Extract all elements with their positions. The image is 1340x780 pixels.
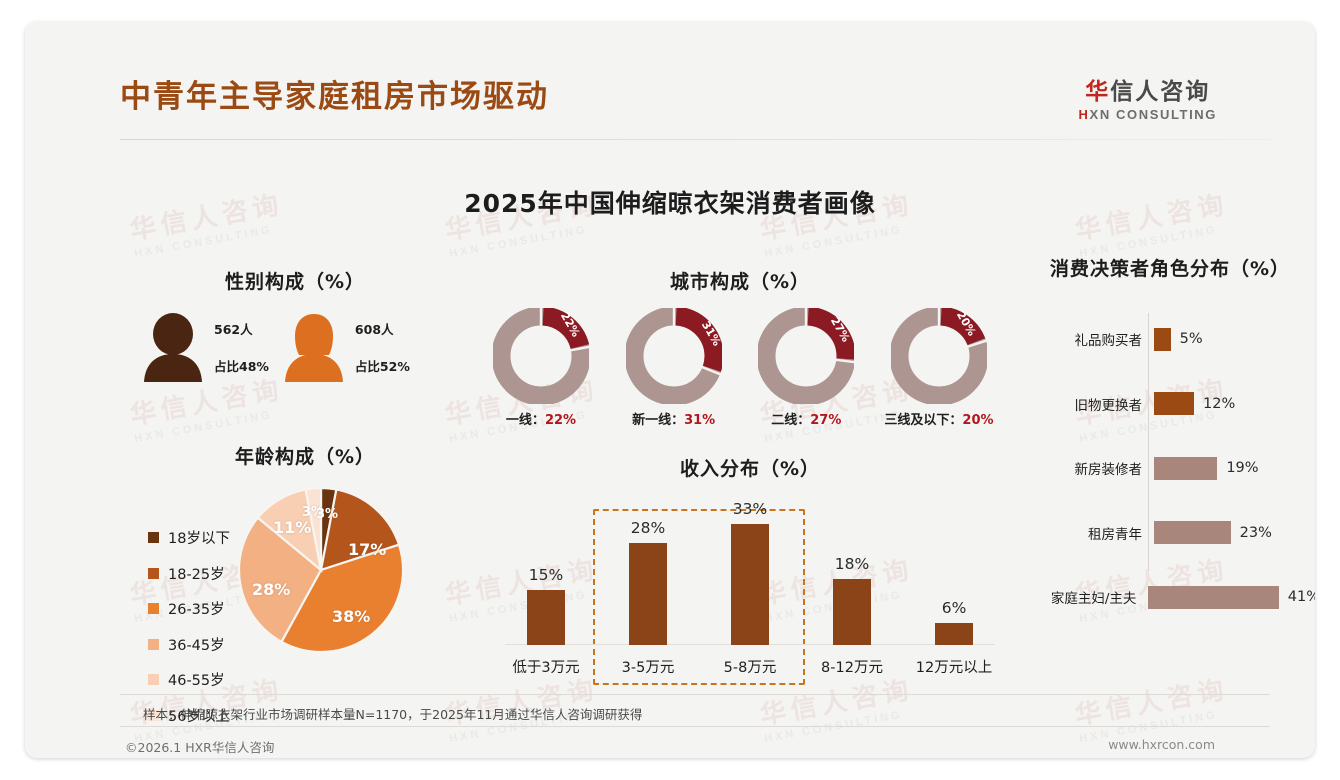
city-donut-4[interactable]: 20%三线及以下：20% — [877, 308, 1001, 428]
logo-chinese: 华信人咨询 — [1079, 80, 1217, 104]
page-title: 中青年主导家庭租房市场驱动 — [120, 82, 549, 113]
role-bar[interactable] — [1148, 586, 1278, 609]
gender-panel-title: 性别构成（%） — [130, 267, 460, 294]
male-silhouette-icon — [142, 312, 204, 384]
donut-caption: 三线及以下：20% — [877, 409, 1001, 428]
copyright-text: ©2026.1 HXR华信人咨询 — [125, 737, 274, 756]
legend-swatch-icon — [148, 532, 159, 543]
age-slice-label-under-18: 3% — [316, 507, 338, 522]
footer-divider-top — [120, 694, 1270, 695]
donut-caption: 一线：22% — [479, 409, 603, 428]
legend-swatch-icon — [148, 674, 159, 685]
gender-male-unit: 562人 占比48% — [142, 312, 269, 384]
logo-chinese-accent: 华 — [1085, 79, 1110, 105]
income-bar-category: 3-5万元 — [597, 656, 699, 677]
gender-female-count: 608人 — [355, 315, 410, 344]
age-pie-chart: 17% 38% 28% 11% 3% 3% — [236, 485, 406, 655]
city-donut-2[interactable]: 31%新一线：31% — [612, 308, 736, 428]
income-bar-column[interactable]: 33%5-8万元 — [699, 495, 801, 645]
header-divider — [120, 139, 1270, 140]
role-name-label: 礼品购买者 — [1020, 329, 1148, 349]
donut-caption-value: 27% — [810, 413, 841, 428]
role-name-label: 租房青年 — [1020, 523, 1148, 543]
donut-caption-value: 22% — [545, 413, 576, 428]
income-bar-column[interactable]: 15%低于3万元 — [495, 495, 597, 645]
age-slice-label-46-55: 11% — [273, 518, 311, 537]
role-name-label: 家庭主妇/主夫 — [1020, 587, 1142, 607]
role-row[interactable]: 旧物更换者12% — [1020, 372, 1315, 437]
age-legend-item[interactable]: 18岁以下 — [148, 527, 230, 548]
city-panel-title: 城市构成（%） — [475, 267, 1005, 294]
donut-caption-value: 31% — [684, 413, 715, 428]
income-bar-value: 33% — [733, 500, 767, 518]
income-panel-title: 收入分布（%） — [495, 454, 1005, 481]
income-bar[interactable] — [731, 524, 769, 645]
income-bar-category: 5-8万元 — [699, 656, 801, 677]
age-legend-item[interactable]: 46-55岁 — [148, 669, 230, 690]
legend-swatch-icon — [148, 568, 159, 579]
role-bar[interactable] — [1154, 457, 1217, 480]
donut-ring: 20% — [891, 308, 987, 404]
income-bar-group: 15%低于3万元28%3-5万元33%5-8万元18%8-12万元6%12万元以… — [495, 495, 1005, 645]
slide-canvas: 华信人咨询HXN CONSULTING华信人咨询HXN CONSULTING华信… — [25, 22, 1315, 758]
main-subtitle: 2025年中国伸缩晾衣架消费者画像 — [25, 184, 1315, 220]
income-bar[interactable] — [629, 543, 667, 645]
donut-caption-name: 新一线： — [632, 413, 684, 428]
watermark-mark: 华信人咨询HXN CONSULTING — [1072, 669, 1233, 745]
logo-english-rest: XN CONSULTING — [1090, 107, 1217, 122]
sample-note: 样本：伸缩晾衣架行业市场调研样本量N=1170，于2025年11月通过华信人咨询… — [143, 704, 642, 723]
income-bar-value: 15% — [529, 566, 563, 584]
age-legend-label: 18岁以下 — [168, 527, 230, 548]
donut-caption-name: 三线及以下： — [884, 413, 962, 428]
donut-ring: 31% — [626, 308, 722, 404]
age-legend-label: 18-25岁 — [168, 563, 225, 584]
income-bar-column[interactable]: 6%12万元以上 — [903, 495, 1005, 645]
role-value-label: 19% — [1226, 460, 1258, 476]
age-legend-label: 46-55岁 — [168, 669, 225, 690]
gender-female-unit: 608人 占比52% — [283, 312, 410, 384]
gender-panel: 性别构成（%） 562人 占比48% 608人 占比5 — [130, 267, 460, 384]
age-panel-title: 年龄构成（%） — [130, 442, 480, 469]
role-bar[interactable] — [1154, 328, 1171, 351]
brand-logo: 华信人咨询 HXN CONSULTING — [1079, 80, 1217, 122]
legend-swatch-icon — [148, 603, 159, 614]
role-bar[interactable] — [1154, 392, 1194, 415]
role-row[interactable]: 家庭主妇/主夫41% — [1020, 565, 1315, 630]
age-legend-label: 36-45岁 — [168, 634, 225, 655]
slide-header: 中青年主导家庭租房市场驱动 华信人咨询 HXN CONSULTING — [25, 22, 1315, 130]
role-name-label: 新房装修者 — [1020, 458, 1148, 478]
donut-caption: 二线：27% — [744, 409, 868, 428]
role-row[interactable]: 新房装修者19% — [1020, 436, 1315, 501]
age-slice-label-36-45: 28% — [252, 580, 290, 599]
city-donut-row: 22%一线：22%31%新一线：31%27%二线：27%20%三线及以下：20% — [475, 308, 1005, 428]
role-value-label: 12% — [1203, 396, 1235, 412]
age-legend: 18岁以下18-25岁26-35岁36-45岁46-55岁56岁以上 — [130, 485, 230, 740]
donut-caption-value: 20% — [962, 413, 993, 428]
age-legend-item[interactable]: 26-35岁 — [148, 598, 230, 619]
income-bar-value: 18% — [835, 555, 869, 573]
income-bar-category: 8-12万元 — [801, 656, 903, 677]
age-slice-label-26-35: 38% — [332, 607, 370, 626]
city-donut-1[interactable]: 22%一线：22% — [479, 308, 603, 428]
role-value-label: 23% — [1240, 525, 1272, 541]
gender-male-text: 562人 占比48% — [214, 315, 269, 382]
age-legend-item[interactable]: 18-25岁 — [148, 563, 230, 584]
logo-chinese-rest: 信人咨询 — [1110, 79, 1210, 105]
donut-caption-name: 二线： — [771, 413, 810, 428]
roles-plot: 礼品购买者5%旧物更换者12%新房装修者19%租房青年23%家庭主妇/主夫41% — [1020, 307, 1315, 630]
income-panel: 收入分布（%） 15%低于3万元28%3-5万元33%5-8万元18%8-12万… — [495, 454, 1005, 681]
footer-divider-bottom — [120, 726, 1270, 727]
role-row[interactable]: 租房青年23% — [1020, 501, 1315, 566]
income-bar-column[interactable]: 18%8-12万元 — [801, 495, 903, 645]
website-link[interactable]: www.hxrcon.com — [1108, 737, 1215, 752]
age-panel: 年龄构成（%） 18岁以下18-25岁26-35岁36-45岁46-55岁56岁… — [130, 442, 480, 740]
gender-female-share: 占比52% — [355, 352, 410, 381]
roles-axis-line — [1148, 313, 1149, 571]
income-bar[interactable] — [935, 623, 973, 645]
role-name-label: 旧物更换者 — [1020, 394, 1148, 414]
logo-english-accent: H — [1079, 107, 1090, 122]
roles-panel-title: 消费决策者角色分布（%） — [1020, 254, 1315, 281]
income-bar-category: 低于3万元 — [495, 656, 597, 677]
income-bar-column[interactable]: 28%3-5万元 — [597, 495, 699, 645]
gender-female-text: 608人 占比52% — [355, 315, 410, 382]
donut-caption: 新一线：31% — [612, 409, 736, 428]
roles-bar-group: 礼品购买者5%旧物更换者12%新房装修者19%租房青年23%家庭主妇/主夫41% — [1020, 307, 1315, 630]
role-row[interactable]: 礼品购买者5% — [1020, 307, 1315, 372]
income-bar[interactable] — [833, 579, 871, 645]
legend-swatch-icon — [148, 639, 159, 650]
income-bar[interactable] — [527, 590, 565, 645]
logo-english: HXN CONSULTING — [1079, 107, 1217, 122]
income-bar-value: 28% — [631, 519, 665, 537]
age-legend-label: 26-35岁 — [168, 598, 225, 619]
donut-ring: 27% — [758, 308, 854, 404]
city-donut-3[interactable]: 27%二线：27% — [744, 308, 868, 428]
age-slice-label-18-25: 17% — [348, 540, 386, 559]
gender-male-share: 占比48% — [214, 352, 269, 381]
role-bar[interactable] — [1154, 521, 1231, 544]
role-value-label: 5% — [1180, 331, 1203, 347]
income-plot: 15%低于3万元28%3-5万元33%5-8万元18%8-12万元6%12万元以… — [495, 491, 1005, 681]
donut-ring: 22% — [493, 308, 589, 404]
role-value-label: 41% — [1288, 589, 1315, 605]
gender-male-count: 562人 — [214, 315, 269, 344]
roles-panel: 消费决策者角色分布（%） 礼品购买者5%旧物更换者12%新房装修者19%租房青年… — [1020, 254, 1315, 630]
city-panel: 城市构成（%） 22%一线：22%31%新一线：31%27%二线：27%20%三… — [475, 267, 1005, 428]
donut-caption-name: 一线： — [506, 413, 545, 428]
female-silhouette-icon — [283, 312, 345, 384]
income-bar-value: 6% — [942, 599, 967, 617]
income-bar-category: 12万元以上 — [903, 656, 1005, 677]
age-legend-item[interactable]: 36-45岁 — [148, 634, 230, 655]
